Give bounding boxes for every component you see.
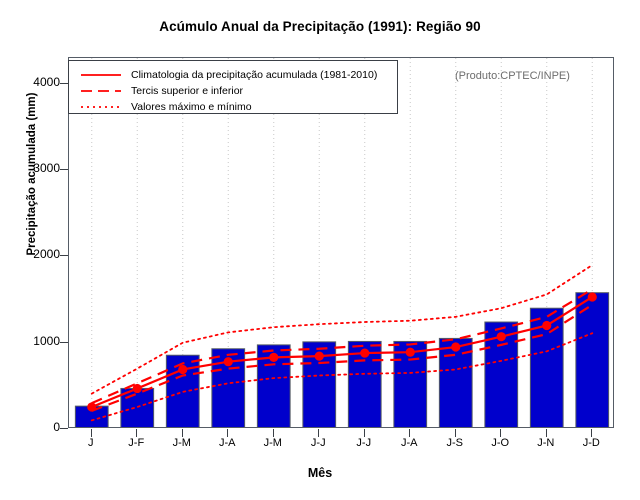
- y-axis-label: Precipitação acumulada (mm): [26, 24, 38, 324]
- x-axis-tick-mark: [455, 429, 456, 437]
- chart-canvas: Acúmulo Anual da Precipitação (1991): Re…: [0, 0, 640, 500]
- legend-line-icon: [79, 67, 123, 83]
- legend: Climatologia da precipitação acumulada (…: [68, 60, 398, 114]
- legend-item: Valores máximo e mínimo: [69, 99, 397, 115]
- legend-item: Tercis superior e inferior: [69, 83, 397, 99]
- x-axis-tick-mark: [182, 429, 183, 437]
- legend-item-label: Valores máximo e mínimo: [131, 99, 252, 115]
- y-axis-tick-mark: [60, 169, 68, 170]
- legend-item-label: Climatologia da precipitação acumulada (…: [131, 67, 377, 83]
- x-axis-tick-mark: [91, 429, 92, 437]
- x-axis-tick-mark: [136, 429, 137, 437]
- legend-line-icon: [79, 99, 123, 115]
- x-axis-tick-mark: [227, 429, 228, 437]
- x-axis-tick-mark: [364, 429, 365, 437]
- y-axis-tick-mark: [60, 342, 68, 343]
- y-axis-tick-label: 0: [14, 420, 60, 434]
- x-axis-tick-mark: [409, 429, 410, 437]
- x-axis-tick-label: J-D: [561, 437, 621, 449]
- y-axis-tick-mark: [60, 428, 68, 429]
- legend-item-label: Tercis superior e inferior: [131, 83, 243, 99]
- x-axis-tick-mark: [546, 429, 547, 437]
- y-axis-tick-mark: [60, 83, 68, 84]
- x-axis-tick-mark: [318, 429, 319, 437]
- y-axis-tick-mark: [60, 255, 68, 256]
- y-axis-tick-label: 1000: [14, 334, 60, 348]
- legend-line-icon: [79, 83, 123, 99]
- producer-annotation: (Produto:CPTEC/INPE): [455, 70, 570, 82]
- x-axis-tick-mark: [500, 429, 501, 437]
- legend-item: Climatologia da precipitação acumulada (…: [69, 67, 397, 83]
- x-axis-label: Mês: [0, 466, 640, 480]
- x-axis-tick-mark: [273, 429, 274, 437]
- x-axis-tick-mark: [591, 429, 592, 437]
- page-title: Acúmulo Anual da Precipitação (1991): Re…: [0, 19, 640, 34]
